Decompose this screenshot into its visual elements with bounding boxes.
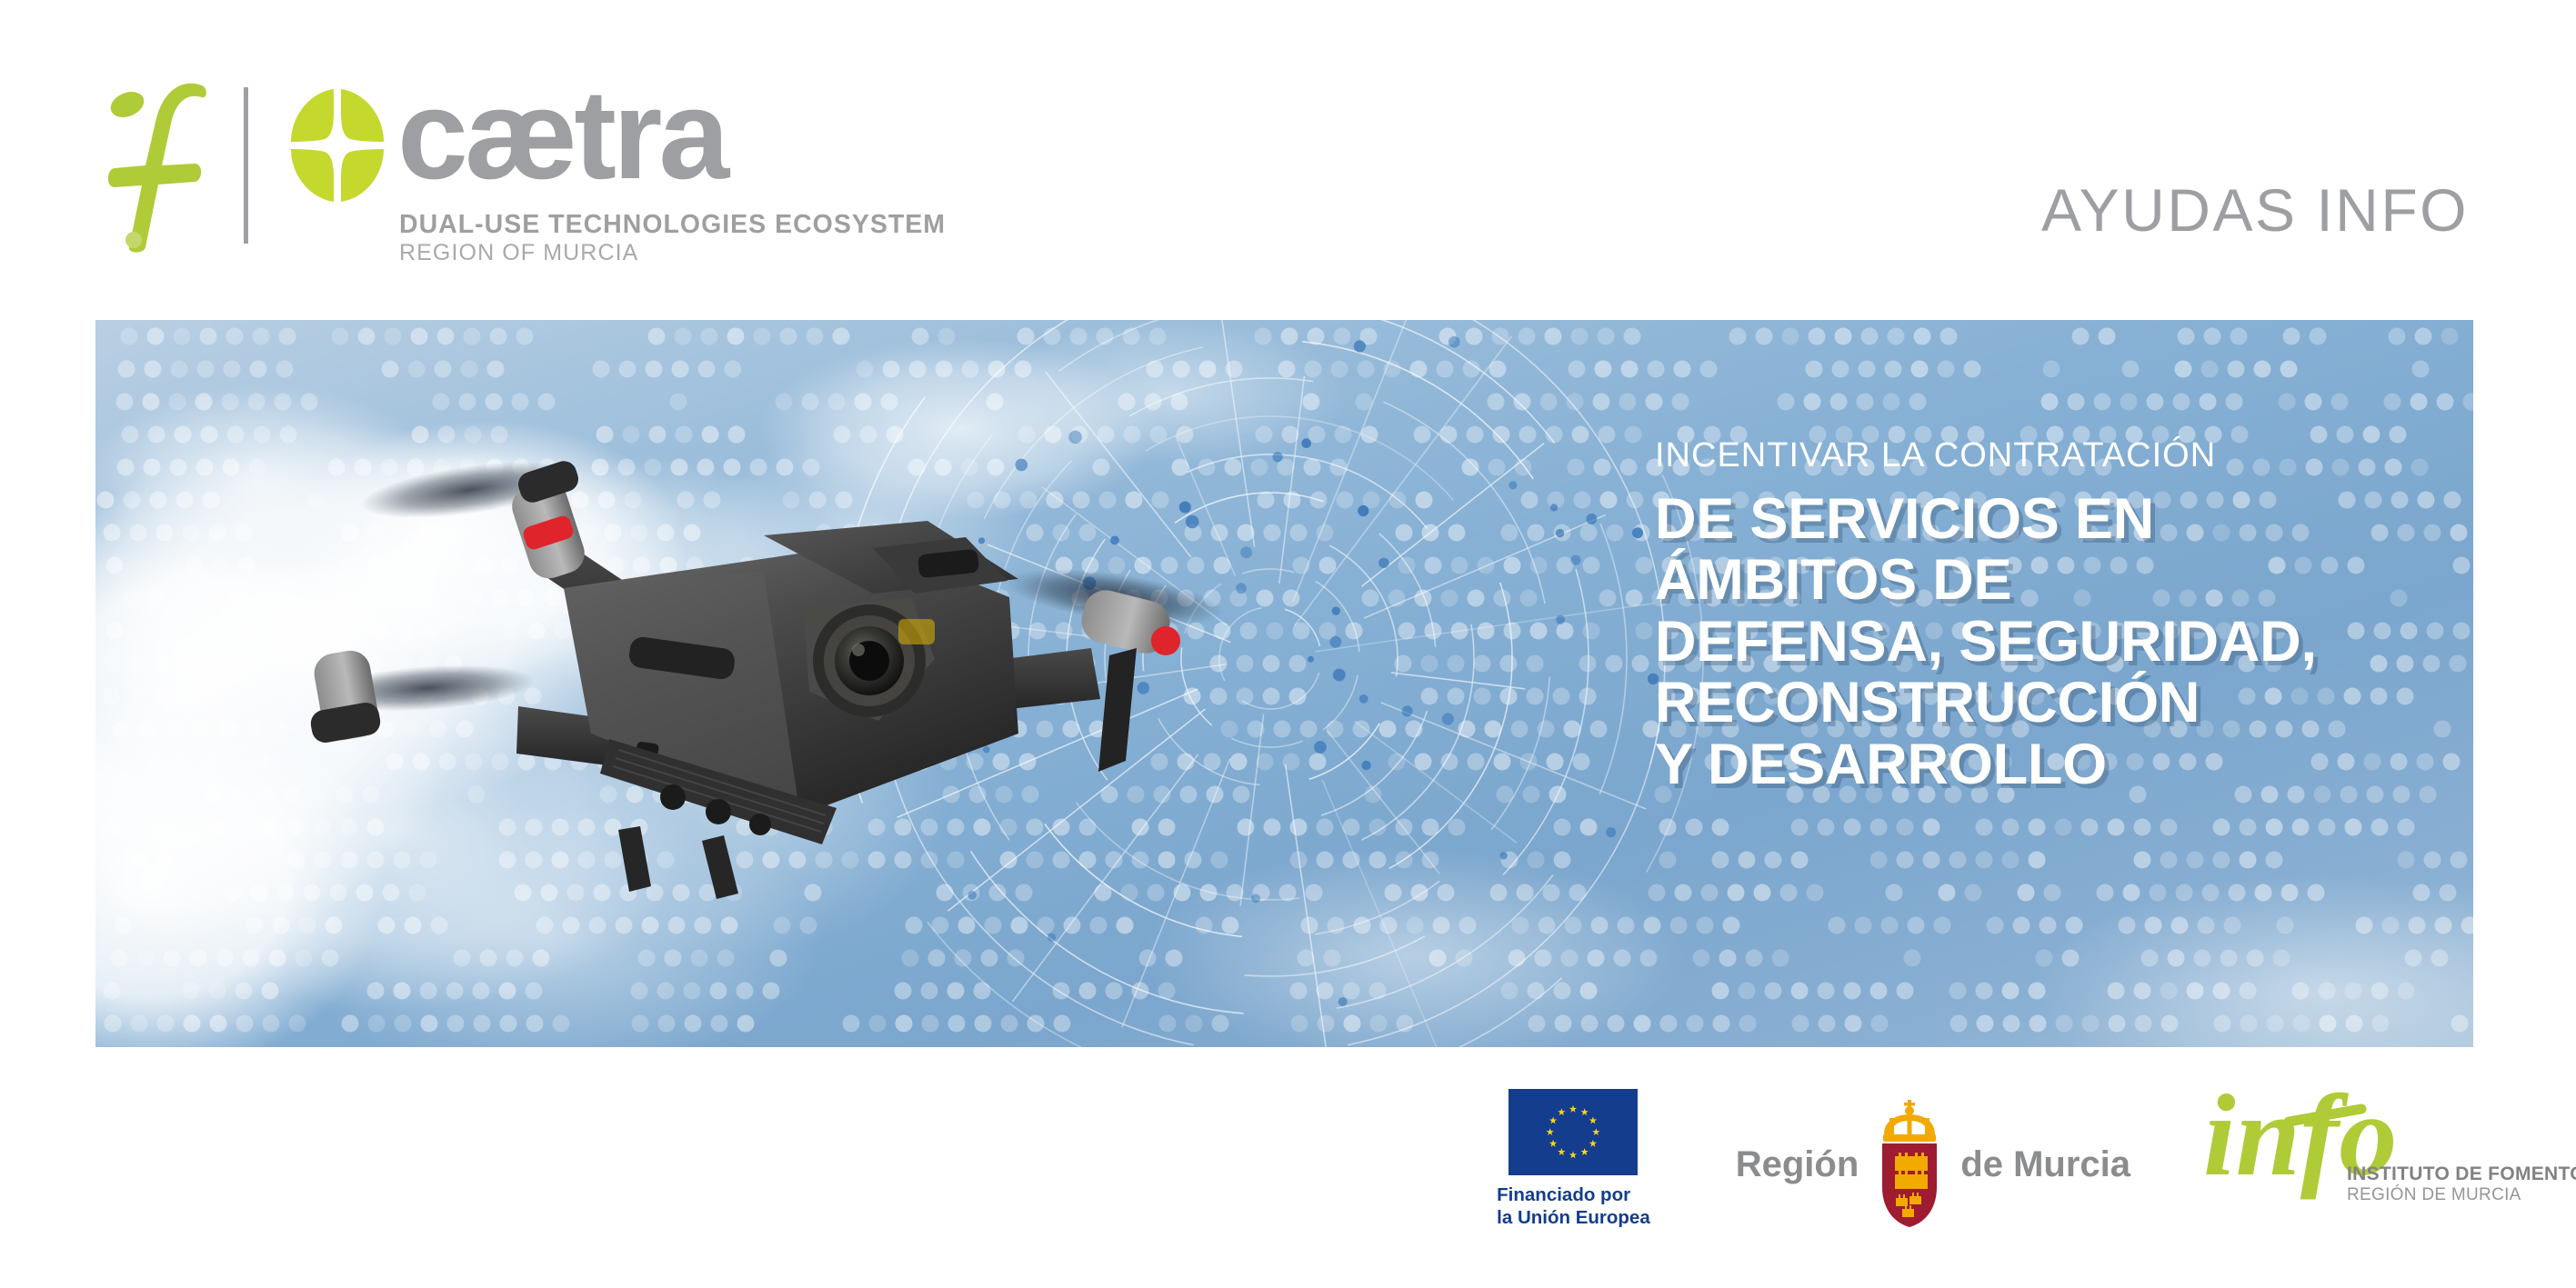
headline-line-1: DE SERVICIOS EN — [1655, 489, 2410, 550]
murcia-coat-of-arms-icon — [1871, 1100, 1948, 1229]
radar-arc — [1599, 524, 1627, 794]
radar-node-dot — [1301, 438, 1311, 448]
radar-node-dot — [1378, 558, 1388, 568]
radar-node-dot — [1332, 607, 1340, 615]
info-subtitle: INSTITUTO DE FOMENTO REGIÓN DE MURCIA — [2347, 1163, 2576, 1205]
radar-node-dot — [1556, 615, 1565, 624]
footer-logo-row: Financiado por la Unión Europea Región — [1497, 1074, 2474, 1229]
radar-arc — [1129, 378, 1313, 416]
radar-spoke — [1381, 703, 1647, 809]
page-footer: Financiado por la Unión Europea Región — [0, 1047, 2576, 1288]
brand-lockup[interactable]: cætra DUAL-USE TECHNOLOGIES ECOSYSTEM RE… — [107, 80, 946, 266]
radar-spoke — [1355, 721, 1517, 843]
radar-node-dot — [1273, 452, 1283, 462]
drone-image — [291, 434, 1273, 906]
radar-arc — [1302, 342, 1533, 479]
radar-spoke — [1293, 320, 1429, 602]
radar-spoke — [1315, 604, 1654, 652]
radar-node-dot — [1361, 761, 1370, 770]
radar-node-dot — [1354, 340, 1366, 352]
eu-funding-logo: Financiado por la Unión Europea — [1497, 1089, 1650, 1229]
radar-node-dot — [1329, 636, 1341, 648]
eu-flag-icon — [1509, 1089, 1638, 1175]
radar-node-dot — [1570, 555, 1580, 565]
radar-spoke — [1286, 764, 1332, 1047]
radar-node-dot — [1632, 527, 1643, 538]
radar-node-dot — [1402, 705, 1413, 716]
region-de-murcia-logo: Región — [1736, 1100, 2130, 1229]
radar-node-dot — [1550, 504, 1558, 511]
info-subtitle-line2: REGIÓN DE MURCIA — [2347, 1185, 2576, 1206]
region-label-left: Región — [1736, 1144, 1859, 1185]
headline-line-2: ÁMBITOS DE — [1655, 550, 2410, 611]
radar-spoke — [1295, 336, 1512, 626]
banner-copy: INCENTIVAR LA CONTRATACIÓN DE SERVICIOS … — [1655, 438, 2410, 795]
banner-headline: DE SERVICIOS ENÁMBITOS DEDEFENSA, SEGURI… — [1655, 489, 2410, 795]
info-subtitle-line1: INSTITUTO DE FOMENTO — [2347, 1163, 2576, 1185]
radar-node-dot — [1359, 694, 1368, 704]
radar-arc — [1462, 320, 1665, 764]
headline-line-4: RECONSTRUCCIÓN — [1655, 673, 2410, 734]
radar-arc — [1058, 320, 1360, 372]
radar-arc — [927, 922, 1193, 1047]
radar-spoke — [1279, 376, 1305, 584]
section-label: AYUDAS INFO — [2041, 175, 2469, 245]
radar-node-dot — [1587, 514, 1598, 524]
radar-node-dot — [1358, 505, 1368, 516]
radar-arc — [1323, 675, 1358, 730]
eu-caption-line2: la Unión Europea — [1497, 1206, 1650, 1229]
radar-node-dot — [1314, 741, 1327, 754]
caetra-tagline-line1: DUAL-USE TECHNOLOGIES ECOSYSTEM — [399, 211, 946, 239]
radar-spoke — [1362, 444, 1545, 587]
caetra-brand: cætra DUAL-USE TECHNOLOGIES ECOSYSTEM RE… — [286, 80, 946, 266]
eu-caption: Financiado por la Unión Europea — [1497, 1183, 1650, 1229]
radar-node-dot — [1556, 529, 1564, 537]
headline-line-3: DEFENSA, SEGURIDAD, — [1655, 612, 2410, 673]
brand-divider — [244, 87, 248, 244]
headline-line-5: Y DESARROLLO — [1655, 734, 2410, 795]
radar-node-dot — [1509, 481, 1517, 489]
radar-node-dot — [1047, 934, 1056, 942]
eu-caption-line1: Financiado por — [1497, 1183, 1650, 1206]
radar-node-dot — [1606, 827, 1616, 837]
radar-node-dot — [1500, 852, 1508, 859]
caetra-tagline: DUAL-USE TECHNOLOGIES ECOSYSTEM REGION O… — [399, 211, 946, 266]
radar-spoke — [1364, 515, 1606, 619]
radar-node-dot — [1308, 656, 1314, 663]
region-label-right: de Murcia — [1960, 1144, 2130, 1185]
page-header: cætra DUAL-USE TECHNOLOGIES ECOSYSTEM RE… — [0, 0, 2576, 320]
caetra-tagline-line2: REGION OF MURCIA — [399, 239, 946, 266]
radar-node-dot — [1333, 669, 1346, 682]
radar-arc — [1337, 875, 1553, 1009]
radar-node-dot — [1338, 997, 1348, 1006]
banner-eyebrow: INCENTIVAR LA CONTRATACIÓN — [1655, 438, 2410, 474]
drone-illustration — [291, 434, 1273, 906]
radar-spoke — [1391, 673, 1525, 689]
info-logo: info INSTITUTO DE FOMENTO REGIÓN DE MURC… — [2201, 1074, 2474, 1211]
svg-text:cætra: cætra — [397, 80, 730, 202]
hero-banner: INCENTIVAR LA CONTRATACIÓN DE SERVICIOS … — [95, 320, 2473, 1047]
radar-arc — [1383, 402, 1545, 604]
caetra-petal-icon — [286, 85, 388, 205]
if-monogram-icon — [107, 80, 216, 253]
radar-arc — [1491, 676, 1549, 829]
radar-node-dot — [1442, 713, 1454, 724]
radar-node-dot — [1448, 336, 1460, 348]
caetra-wordmark: cætra — [397, 80, 779, 202]
radar-arc — [1250, 320, 1554, 443]
radar-spoke — [1327, 731, 1439, 874]
